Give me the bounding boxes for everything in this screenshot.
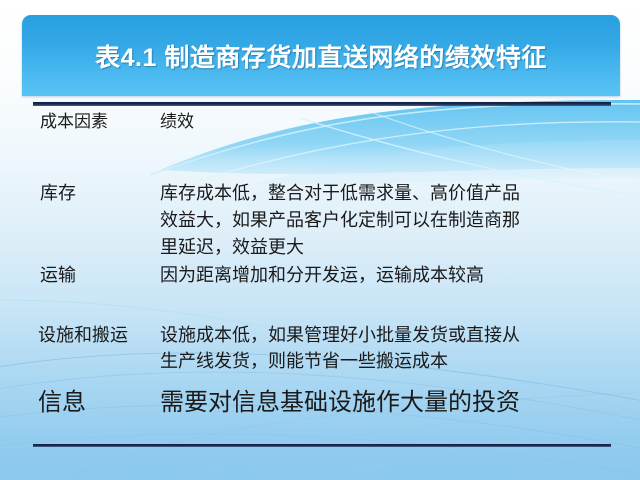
table-row: 运输 因为距离增加和分开发运，运输成本较高 [40, 262, 620, 289]
value-line: 因为距离增加和分开发运，运输成本较高 [160, 262, 620, 289]
performance-table: 成本因素 绩效 库存 库存成本低，整合对于低需求量、高价值产品 效益大，如果产品… [0, 0, 640, 480]
value-line: 需要对信息基础设施作大量的投资 [160, 388, 618, 418]
row-label-inventory: 库存 [40, 180, 160, 207]
value-line: 里延迟，效益更大 [160, 234, 620, 261]
row-value-facility-and-handling: 设施成本低，如果管理好小批量发货或直接从 生产线发货，则能节省一些搬运成本 [160, 322, 618, 374]
value-line: 库存成本低，整合对于低需求量、高价值产品 [160, 180, 620, 207]
value-line: 生产线发货，则能节省一些搬运成本 [160, 348, 618, 374]
row-label-information: 信息 [38, 388, 160, 418]
header-performance: 绩效 [160, 111, 600, 133]
header-cost-factor: 成本因素 [40, 111, 160, 133]
row-value-transportation: 因为距离增加和分开发运，运输成本较高 [160, 262, 620, 289]
slide-canvas: 表4.1 制造商存货加直送网络的绩效特征 成本因素 绩效 库存 库存成本低，整合… [0, 0, 640, 480]
value-line: 效益大，如果产品客户化定制可以在制造商那 [160, 207, 620, 234]
table-row: 设施和搬运 设施成本低，如果管理好小批量发货或直接从 生产线发货，则能节省一些搬… [38, 322, 618, 374]
row-label-facility-and-handling: 设施和搬运 [38, 322, 160, 348]
table-row: 信息 需要对信息基础设施作大量的投资 [38, 388, 618, 418]
row-value-information: 需要对信息基础设施作大量的投资 [160, 388, 618, 418]
table-header-row: 成本因素 绩效 [40, 111, 600, 133]
row-label-transportation: 运输 [40, 262, 160, 289]
table-row: 库存 库存成本低，整合对于低需求量、高价值产品 效益大，如果产品客户化定制可以在… [40, 180, 620, 261]
value-line: 设施成本低，如果管理好小批量发货或直接从 [160, 322, 618, 348]
row-value-inventory: 库存成本低，整合对于低需求量、高价值产品 效益大，如果产品客户化定制可以在制造商… [160, 180, 620, 261]
